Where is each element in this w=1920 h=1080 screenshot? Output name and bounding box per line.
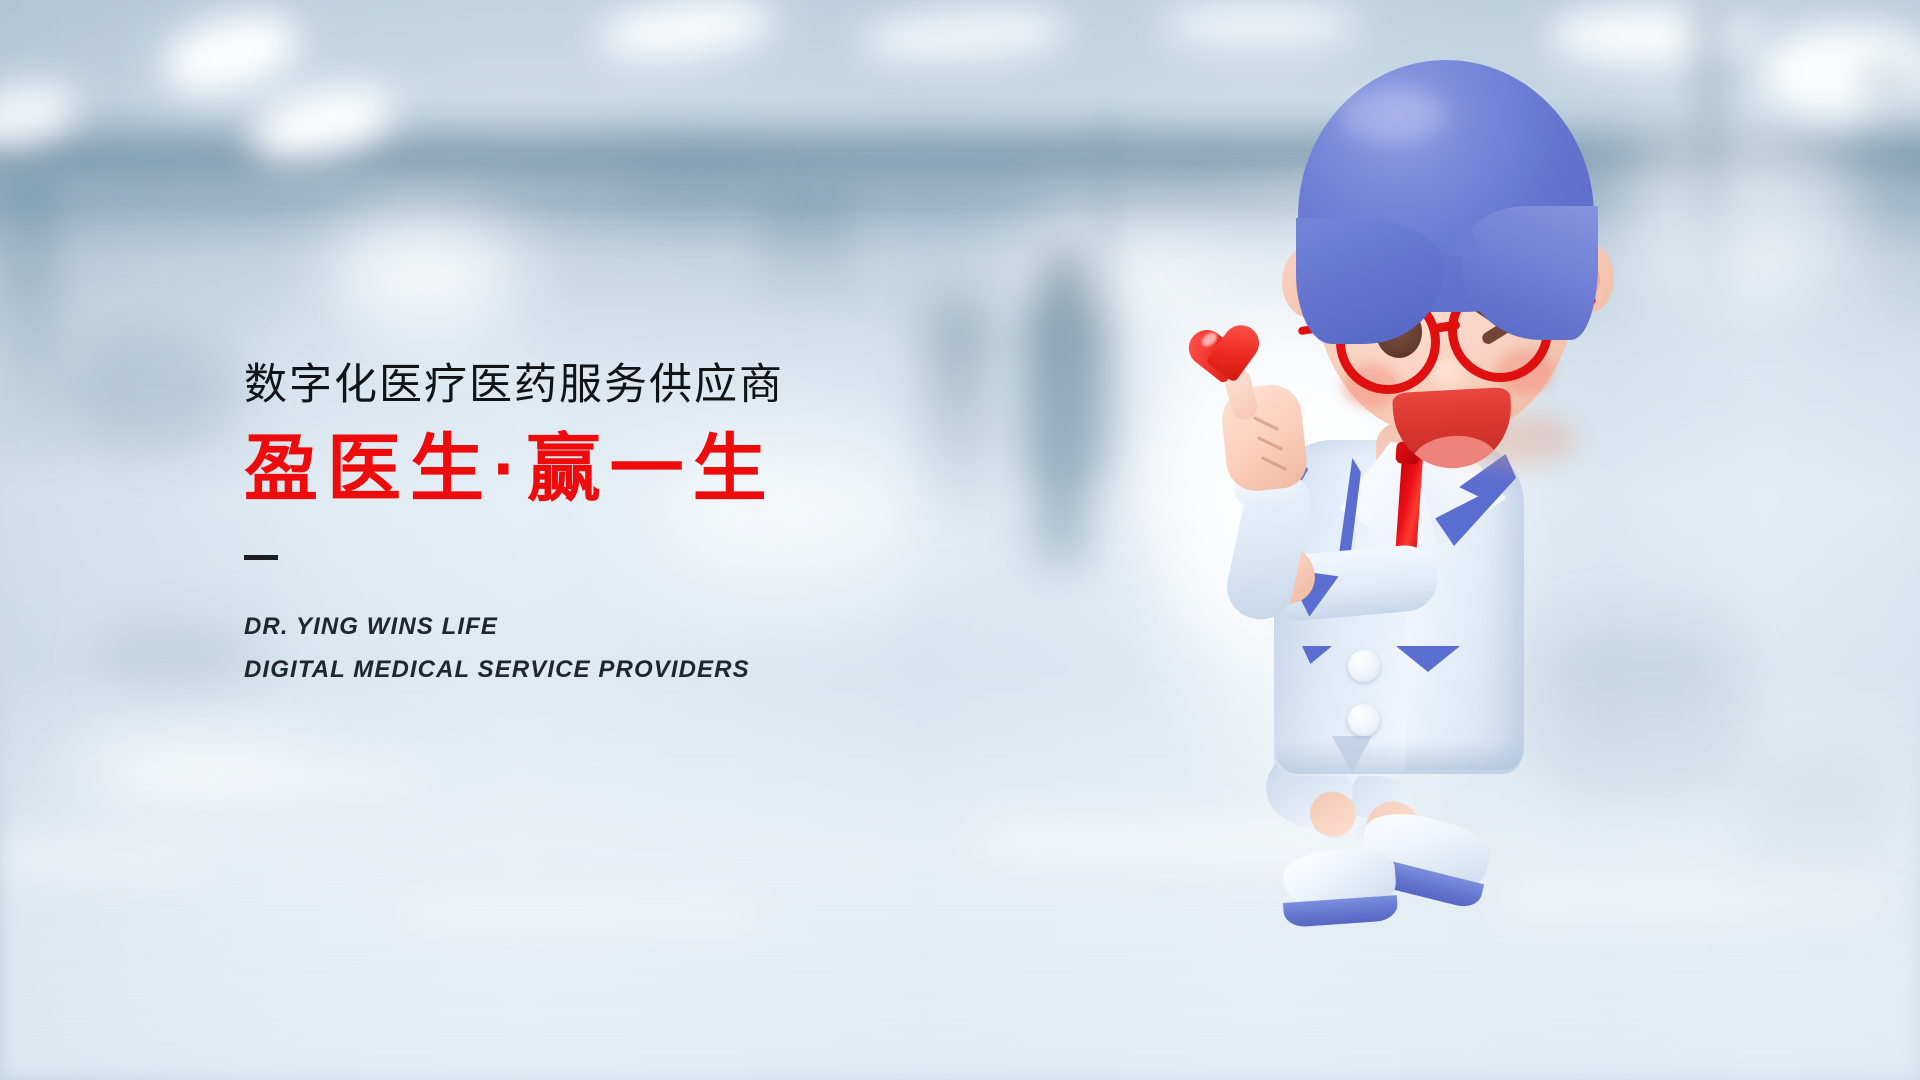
bokeh-glow (1620, 120, 1860, 320)
ceiling-light (593, 0, 779, 69)
lab-coat-hem-shadow (1276, 740, 1522, 774)
floor-streak (400, 900, 760, 930)
blurred-pillar (1690, 0, 1730, 330)
doctor-mascot (1190, 50, 1620, 1050)
blurred-person-silhouette (1008, 246, 1116, 566)
hero-banner: 数字化医疗医药服务供应商 盈医生·赢一生 DR. YING WINS LIFE … (0, 0, 1920, 1080)
ceiling-light (153, 0, 309, 108)
divider-rule (244, 555, 278, 560)
shoe-front (1282, 846, 1399, 928)
heart-icon (1190, 318, 1260, 388)
blurred-pillar (1860, 60, 1920, 280)
silhouette-torso (1024, 288, 1104, 478)
hair-highlight (1338, 86, 1448, 144)
lab-coat-notch (1332, 736, 1372, 772)
bokeh-glow (330, 214, 520, 334)
mouth-open-smile (1392, 387, 1514, 471)
hero-headline: 盈医生·赢一生 (244, 430, 1004, 508)
silhouette-legs (1036, 461, 1088, 569)
tagline-line-2: DIGITAL MEDICAL SERVICE PROVIDERS (244, 649, 1004, 692)
floor-reflection (0, 660, 1920, 1080)
blurred-ceiling-fixture (760, 180, 852, 310)
tongue (1410, 434, 1499, 471)
ceiling-light (859, 3, 1072, 68)
background-smudge (620, 150, 760, 210)
blurred-pillar (0, 170, 60, 470)
floor-streak (0, 846, 200, 872)
ceiling-light (1160, 2, 1360, 48)
coat-button (1348, 650, 1380, 682)
coat-button (1348, 704, 1380, 736)
hero-copy-block: 数字化医疗医药服务供应商 盈医生·赢一生 DR. YING WINS LIFE … (244, 362, 1004, 691)
hero-subheadline: 数字化医疗医药服务供应商 (244, 362, 1004, 408)
head (1298, 60, 1598, 460)
tagline-line-1: DR. YING WINS LIFE (244, 606, 1004, 649)
hero-tagline: DR. YING WINS LIFE DIGITAL MEDICAL SERVI… (244, 606, 1004, 691)
background-smudge (60, 330, 240, 450)
floor-streak (120, 760, 420, 794)
